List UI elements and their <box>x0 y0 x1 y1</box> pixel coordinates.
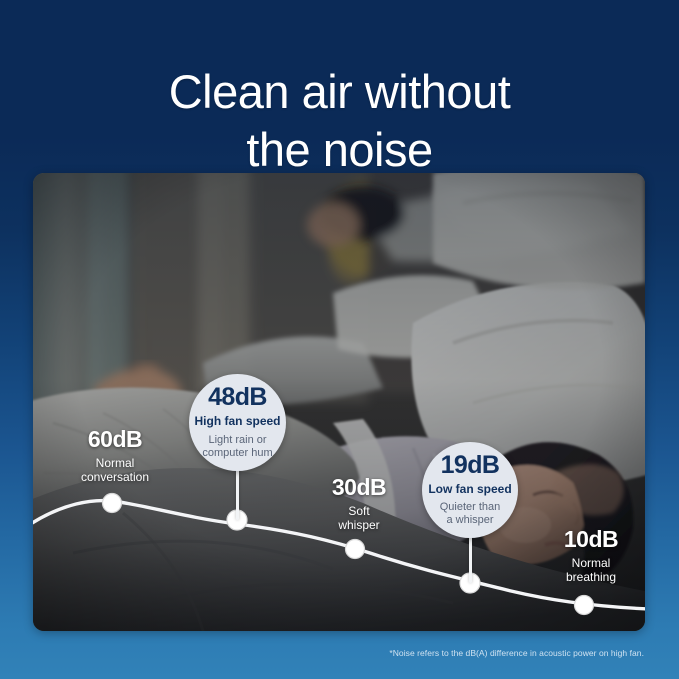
callout-19db-detail-line-1: Quieter than <box>440 501 501 513</box>
callout-48db-detail-line-1: Light rain or <box>208 434 266 446</box>
callout-19db-detail: Quieter than a whisper <box>440 501 501 527</box>
callout-48db-detail: Light rain or computer hum <box>202 434 272 460</box>
callout-19db-title: Low fan speed <box>428 483 511 496</box>
callout-48db-value: 48dB <box>208 385 267 410</box>
label-10db-line-1: Normal <box>572 556 611 570</box>
callout-bubble-19db[interactable]: 19dB Low fan speed Quieter than a whispe… <box>422 442 518 538</box>
label-10db-value: 10dB <box>538 528 644 551</box>
label-30db-description: Soft whisper <box>306 504 412 533</box>
callout-19db-value: 19dB <box>441 453 500 478</box>
callout-48db-detail-line-2: computer hum <box>202 447 272 459</box>
callout-48db-title: High fan speed <box>194 415 280 428</box>
promo-graphic: Clean air without the noise <box>0 0 679 679</box>
label-60db-description: Normal conversation <box>63 456 167 485</box>
label-60db-line-2: conversation <box>81 470 149 484</box>
label-30db: 30dB Soft whisper <box>306 476 412 533</box>
headline-line-2: the noise <box>0 121 679 179</box>
page-title: Clean air without the noise <box>0 63 679 179</box>
label-30db-value: 30dB <box>306 476 412 499</box>
callout-19db-detail-line-2: a whisper <box>446 514 493 526</box>
label-10db-line-2: breathing <box>566 570 616 584</box>
label-60db-line-1: Normal <box>96 456 135 470</box>
label-10db-description: Normal breathing <box>538 556 644 585</box>
bubble-stem-48db <box>236 468 239 520</box>
label-10db: 10dB Normal breathing <box>538 528 644 585</box>
bubble-stem-19db <box>469 535 472 583</box>
label-60db-value: 60dB <box>63 428 167 451</box>
label-30db-line-1: Soft <box>348 504 369 518</box>
label-30db-line-2: whisper <box>338 518 379 532</box>
callout-bubble-48db[interactable]: 48dB High fan speed Light rain or comput… <box>189 374 286 471</box>
footnote-disclaimer: *Noise refers to the dB(A) difference in… <box>389 648 644 658</box>
headline-line-1: Clean air without <box>169 65 511 118</box>
label-60db: 60dB Normal conversation <box>63 428 167 485</box>
